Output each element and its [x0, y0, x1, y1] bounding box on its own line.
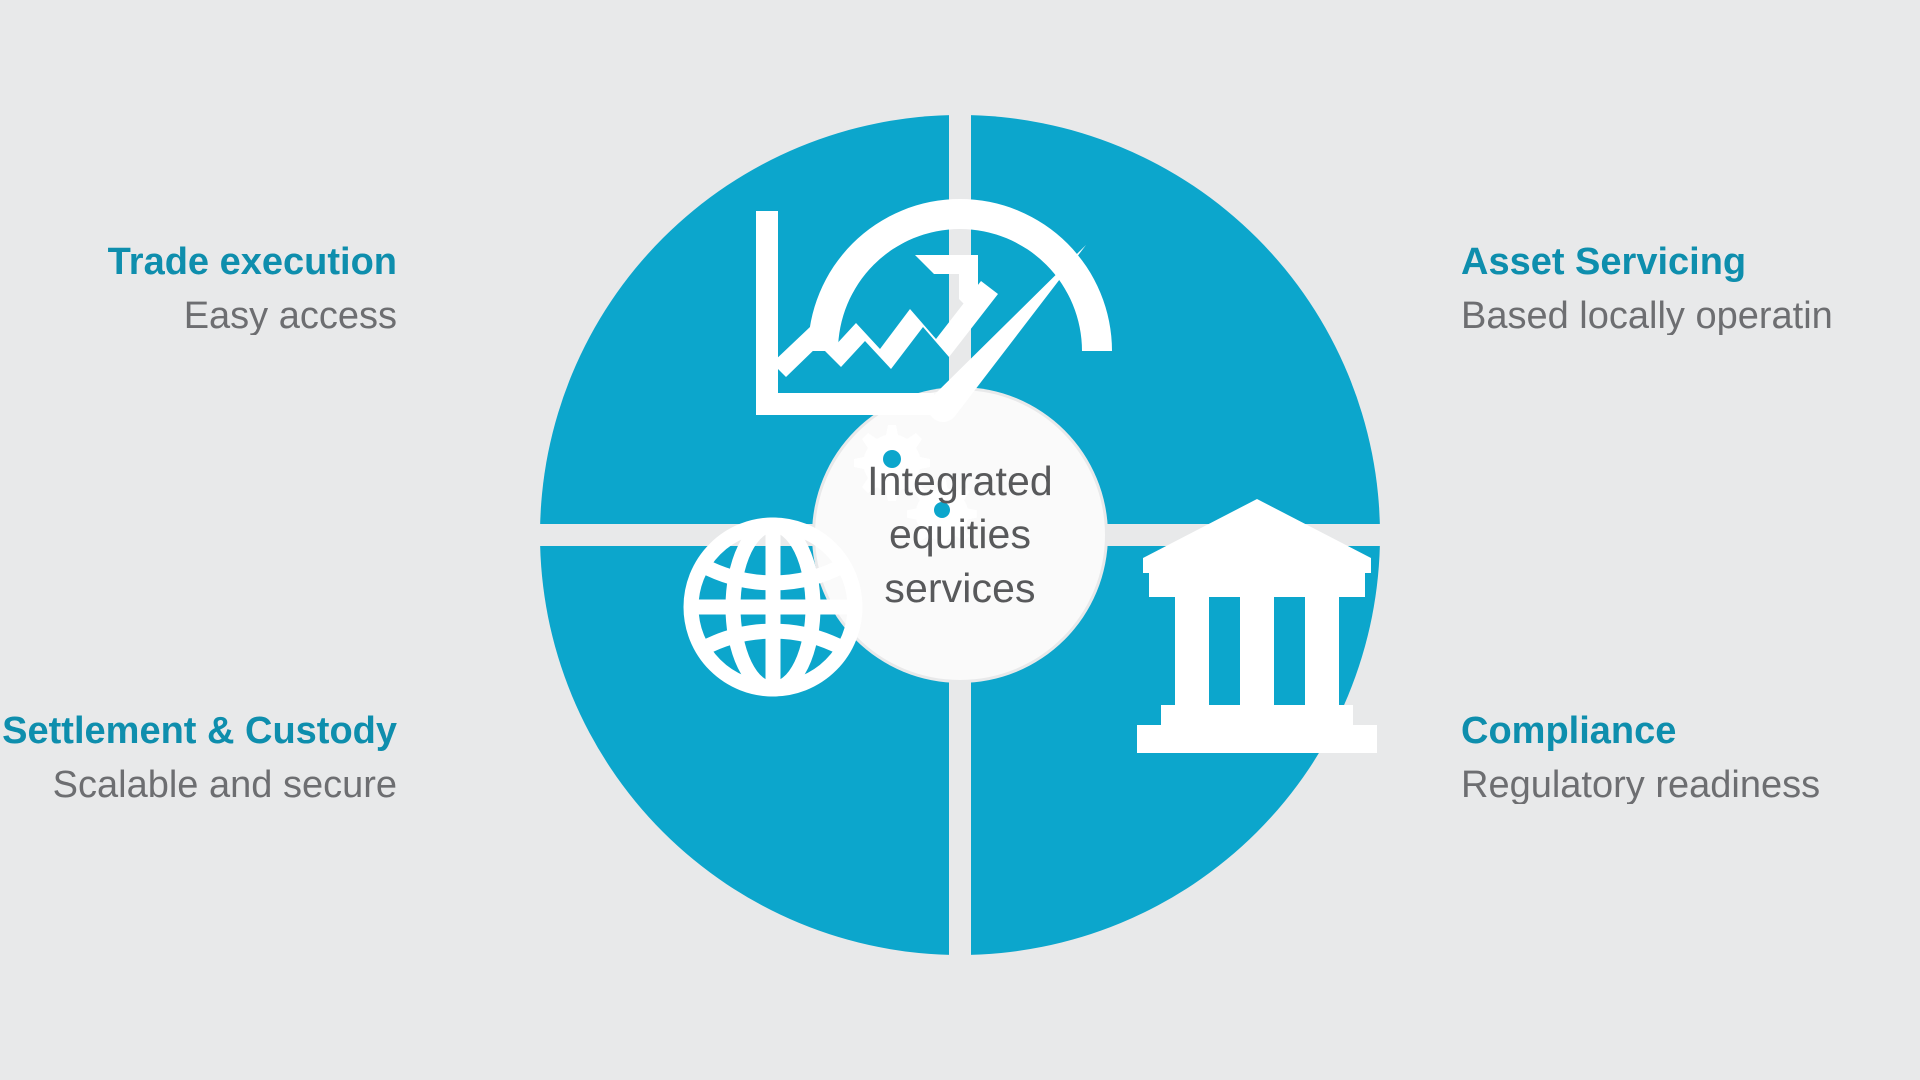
- label-title-asset-servicing: Asset Servicing: [1461, 243, 1920, 281]
- integrated-services-wheel: [520, 95, 1400, 975]
- label-subtitle-settlement-custody: Scalable and secure: [0, 766, 397, 804]
- label-trade-execution[interactable]: Trade execution Easy access: [0, 243, 397, 335]
- label-subtitle-asset-servicing: Based locally operatin: [1461, 297, 1920, 335]
- label-subtitle-compliance: Regulatory readiness: [1461, 766, 1920, 804]
- diagram-canvas: Integrated equities services Trade execu…: [0, 0, 1920, 1080]
- label-title-compliance: Compliance: [1461, 712, 1920, 750]
- label-settlement-custody[interactable]: Settlement & Custody Scalable and secure: [0, 712, 397, 804]
- label-subtitle-trade-execution: Easy access: [0, 297, 397, 335]
- label-title-trade-execution: Trade execution: [0, 243, 397, 281]
- label-asset-servicing[interactable]: Asset Servicing Based locally operatin: [1461, 243, 1920, 335]
- label-compliance[interactable]: Compliance Regulatory readiness: [1461, 712, 1920, 804]
- hub-circle: [815, 390, 1105, 680]
- label-title-settlement-custody: Settlement & Custody: [0, 712, 397, 750]
